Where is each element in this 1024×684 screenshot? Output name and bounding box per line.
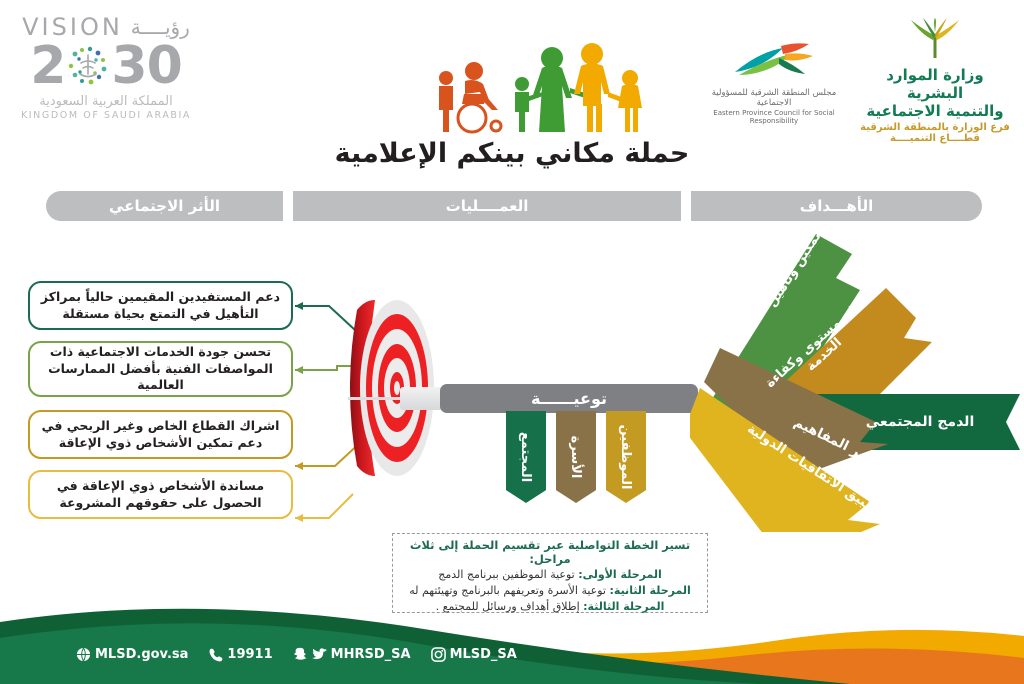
footer-contacts: MLSD.gov.sa 19911 MHRSD_SA MLSD_SA — [76, 643, 517, 665]
note-phase-1-key: المرحلة الأولى: — [578, 568, 662, 581]
impact-box-1: دعم المستفيدين المقيمين حالياً بمراكز ال… — [28, 281, 293, 330]
phone-icon — [208, 647, 223, 662]
footer-wave-decoration — [0, 596, 1024, 684]
mhrsd-logo: وزارة الموارد البشرية والتنمية الاجتماعي… — [856, 18, 1014, 144]
epcsr-logo: مجلس المنطقة الشرقية للمسؤولية الاجتماعي… — [700, 38, 848, 125]
palm-tree-icon — [856, 18, 1014, 64]
instagram-icon — [431, 647, 446, 662]
contact-website[interactable]: MLSD.gov.sa — [76, 647, 188, 662]
note-phase-1: المرحلة الأولى: توعية الموظفين ببرنامج ا… — [399, 567, 701, 583]
infographic-page: VISION رؤيــــة 2 — [0, 0, 1024, 684]
vision-kingdom-en: KINGDOM OF SAUDI ARABIA — [16, 110, 196, 121]
contact-social[interactable]: MHRSD_SA — [293, 647, 411, 662]
vision-2030-logo: VISION رؤيــــة 2 — [16, 14, 196, 122]
vision-kingdom-ar: المملكة العربية السعودية — [16, 94, 196, 109]
contact-phone-label: 19911 — [227, 647, 272, 662]
audience-label-employees: الموظفين — [606, 411, 646, 503]
vision-logo-year: 2 — [16, 40, 196, 92]
saudi-palm-swords-icon — [66, 44, 110, 88]
tab-social-impact[interactable]: الأثر الاجتماعي — [46, 191, 283, 221]
epcsr-name-en: Eastern Province Council for Social Resp… — [700, 109, 848, 125]
audience-banner-family: الأسرة — [556, 411, 596, 503]
twitter-icon — [312, 647, 327, 662]
snapchat-icon — [293, 647, 308, 662]
impact-box-3: اشراك القطاع الخاص وغير الربحي في دعم تم… — [28, 410, 293, 459]
note-phase-2-text: توعية الأسرة وتعريفهم بالبرنامج وتهيئتهم… — [409, 584, 606, 597]
goal-ribbons: تمكين وتأهيل رفع مستوى وكفاءة الخدمة الد… — [690, 232, 1024, 532]
contact-instagram-label: MLSD_SA — [450, 647, 517, 662]
audience-banner-employees: الموظفين — [606, 411, 646, 503]
audience-banner-community: المجتمع — [506, 411, 546, 503]
impact-box-2: تحسن جودة الخدمات الاجتماعية ذات المواصف… — [28, 341, 293, 397]
contact-social-label: MHRSD_SA — [331, 647, 411, 662]
vision-year-right: 30 — [111, 40, 181, 92]
page-title: حملة مكاني بينكم الإعلامية — [0, 138, 1024, 169]
impact-box-4: مساندة الأشخاص ذوي الإعاقة في الحصول على… — [28, 470, 293, 519]
note-phase-2-key: المرحلة الثانية: — [610, 584, 691, 597]
goal-ribbon-3-label: الدمج المجتمعي — [866, 414, 974, 430]
mhrsd-line2: والتنمية الاجتماعية — [856, 102, 1014, 120]
mhrsd-line1: وزارة الموارد البشرية — [856, 66, 1014, 102]
note-heading: تسير الخطة التواصلية عبر تقسيم الحملة إل… — [399, 538, 701, 566]
contact-phone[interactable]: 19911 — [208, 647, 272, 662]
swoosh-bird-icon — [700, 38, 848, 84]
audience-label-family: الأسرة — [556, 411, 596, 503]
goal-ribbon-3: الدمج المجتمعي — [830, 407, 1010, 437]
contact-website-label: MLSD.gov.sa — [95, 647, 188, 662]
audience-label-community: المجتمع — [506, 411, 546, 503]
vision-year-left: 2 — [30, 40, 65, 92]
note-phase-1-text: توعية الموظفين ببرنامج الدمج — [438, 568, 575, 581]
family-disability-silhouette-icon — [424, 26, 654, 136]
tab-operations[interactable]: العمــــليات — [293, 191, 681, 221]
arrow-label: توعيــــــة — [440, 384, 698, 413]
contact-instagram[interactable]: MLSD_SA — [431, 647, 517, 662]
arrow-needle — [348, 397, 406, 400]
mhrsd-line3: فرع الوزارة بالمنطقة الشرقية — [856, 122, 1014, 133]
globe-icon — [76, 647, 91, 662]
epcsr-name-ar: مجلس المنطقة الشرقية للمسؤولية الاجتماعي… — [700, 88, 848, 108]
